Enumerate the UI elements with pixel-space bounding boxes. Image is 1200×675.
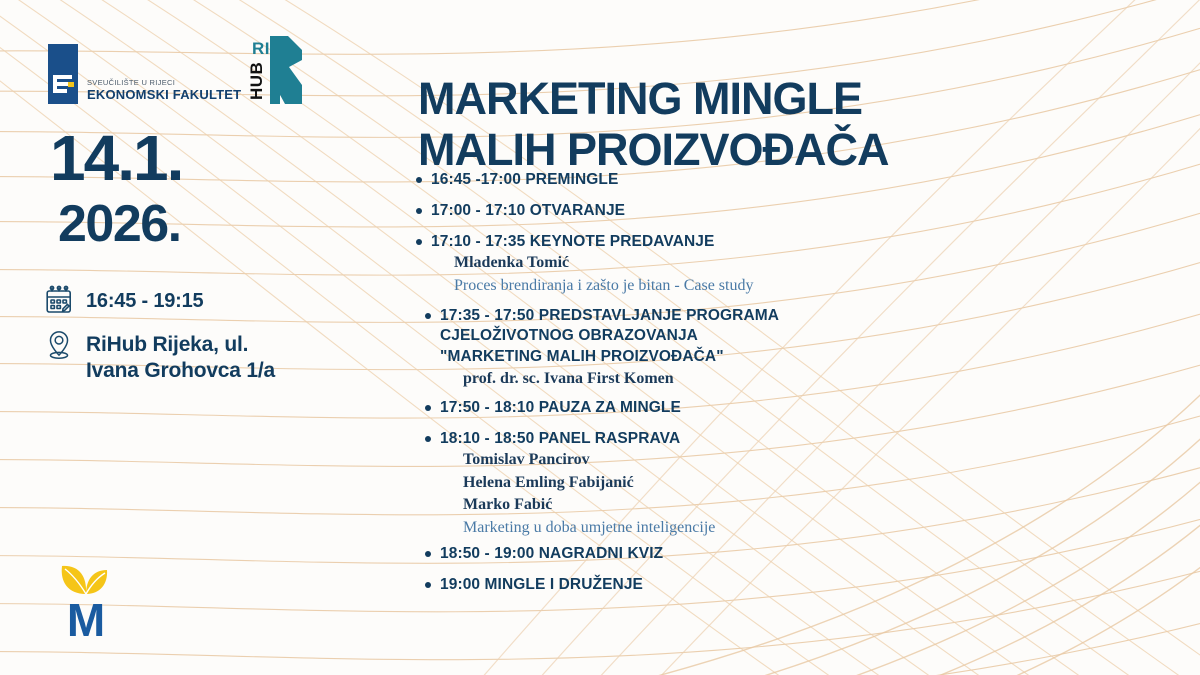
agenda-item-heading-row: 19:00 MINGLE I DRUŽENJE — [416, 575, 1016, 596]
agenda-item: 16:45 -17:00 PREMINGLE — [416, 170, 1016, 191]
university-logo-text: SVEUČILIŠTE U RIJECI EKONOMSKI FAKULTET — [87, 79, 241, 104]
agenda-item-heading: 17:35 - 17:50 PREDSTAVLJANJE PROGRAMA CJ… — [440, 306, 779, 368]
agenda-item: 19:00 MINGLE I DRUŽENJE — [416, 575, 1016, 596]
agenda-item-heading: 18:50 - 19:00 NAGRADNI KVIZ — [440, 544, 663, 565]
agenda-description: Proces brendiranja i zašto je bitan - Ca… — [454, 274, 1016, 297]
agenda-item-detail: Mladenka Tomić Proces brendiranja i zašt… — [416, 252, 1016, 297]
agenda-item: 18:50 - 19:00 NAGRADNI KVIZ — [416, 544, 1016, 565]
agenda-item-heading-row: 17:00 - 17:10 OTVARANJE — [416, 201, 1016, 222]
bullet-icon — [416, 177, 422, 183]
m-leaf-logo: M — [46, 556, 126, 640]
event-poster: SVEUČILIŠTE U RIJECI EKONOMSKI FAKULTET … — [0, 0, 1200, 675]
event-date-year: 2026. — [58, 200, 181, 249]
agenda-item: 17:00 - 17:10 OTVARANJE — [416, 201, 1016, 222]
event-time-row: 16:45 - 19:15 — [44, 285, 203, 317]
university-logo: SVEUČILIŠTE U RIJECI EKONOMSKI FAKULTET — [48, 44, 241, 104]
agenda-speaker-name: Tomislav Pancirov Helena Emling Fabijani… — [463, 449, 1016, 515]
agenda-item-detail: prof. dr. sc. Ivana First Komen — [416, 368, 1016, 390]
bullet-icon — [425, 551, 431, 557]
left-column: SVEUČILIŠTE U RIJECI EKONOMSKI FAKULTET … — [0, 0, 400, 675]
agenda-item-heading-row: 16:45 -17:00 PREMINGLE — [416, 170, 1016, 191]
bullet-icon — [425, 436, 431, 442]
event-date-day: 14.1. — [50, 128, 182, 189]
agenda-item-heading: 17:10 - 17:35 KEYNOTE PREDAVANJE — [431, 232, 714, 253]
agenda-item-heading-row: 17:10 - 17:35 KEYNOTE PREDAVANJE — [416, 232, 1016, 253]
right-column: MARKETING MINGLE MALIH PROIZVOĐAČA 16:45… — [416, 0, 1200, 675]
event-time-text: 16:45 - 19:15 — [86, 285, 203, 313]
event-location-text: RiHub Rijeka, ul. Ivana Grohovca 1/a — [86, 329, 275, 383]
agenda-item-heading-row: 18:10 - 18:50 PANEL RASPRAVA — [416, 429, 1016, 450]
faculty-name-line: EKONOMSKI FAKULTET — [87, 88, 241, 102]
agenda-speaker-name: Mladenka Tomić — [454, 252, 1016, 274]
poster-title: MARKETING MINGLE MALIH PROIZVOĐAČA — [418, 74, 889, 175]
agenda-list: 16:45 -17:00 PREMINGLE 17:00 - 17:10 OTV… — [416, 170, 1016, 596]
agenda-item-detail: Tomislav Pancirov Helena Emling Fabijani… — [416, 449, 1016, 538]
agenda-item-heading-row: 18:50 - 19:00 NAGRADNI KVIZ — [416, 544, 1016, 565]
agenda-item-heading: 19:00 MINGLE I DRUŽENJE — [440, 575, 643, 596]
agenda-item-heading: 17:50 - 18:10 PAUZA ZA MINGLE — [440, 398, 681, 419]
bullet-icon — [425, 582, 431, 588]
efri-mark-icon — [48, 44, 78, 104]
bullet-icon — [416, 239, 422, 245]
agenda-item: 17:10 - 17:35 KEYNOTE PREDAVANJE Mladenk… — [416, 232, 1016, 298]
location-pin-icon — [44, 329, 74, 361]
agenda-item-heading: 16:45 -17:00 PREMINGLE — [431, 170, 618, 191]
svg-text:RI: RI — [252, 39, 270, 58]
agenda-item: 18:10 - 18:50 PANEL RASPRAVA Tomislav Pa… — [416, 429, 1016, 539]
calendar-icon — [44, 285, 74, 317]
agenda-item-heading-row: 17:50 - 18:10 PAUZA ZA MINGLE — [416, 398, 1016, 419]
svg-text:M: M — [67, 594, 105, 640]
bullet-icon — [425, 405, 431, 411]
event-location-row: RiHub Rijeka, ul. Ivana Grohovca 1/a — [44, 329, 275, 383]
agenda-item-heading: 17:00 - 17:10 OTVARANJE — [431, 201, 625, 222]
agenda-item-heading-row: 17:35 - 17:50 PREDSTAVLJANJE PROGRAMA CJ… — [416, 306, 1016, 368]
agenda-item: 17:50 - 18:10 PAUZA ZA MINGLE — [416, 398, 1016, 419]
agenda-item-heading: 18:10 - 18:50 PANEL RASPRAVA — [440, 429, 680, 450]
rihub-logo: RI HUB — [232, 34, 308, 106]
bullet-icon — [425, 313, 431, 319]
bullet-icon — [416, 208, 422, 214]
agenda-speaker-name: prof. dr. sc. Ivana First Komen — [463, 368, 1016, 390]
university-name-line: SVEUČILIŠTE U RIJECI — [87, 79, 241, 87]
agenda-description: Marketing u doba umjetne inteligencije — [463, 516, 1016, 539]
svg-text:HUB: HUB — [247, 62, 266, 100]
agenda-item: 17:35 - 17:50 PREDSTAVLJANJE PROGRAMA CJ… — [416, 306, 1016, 390]
